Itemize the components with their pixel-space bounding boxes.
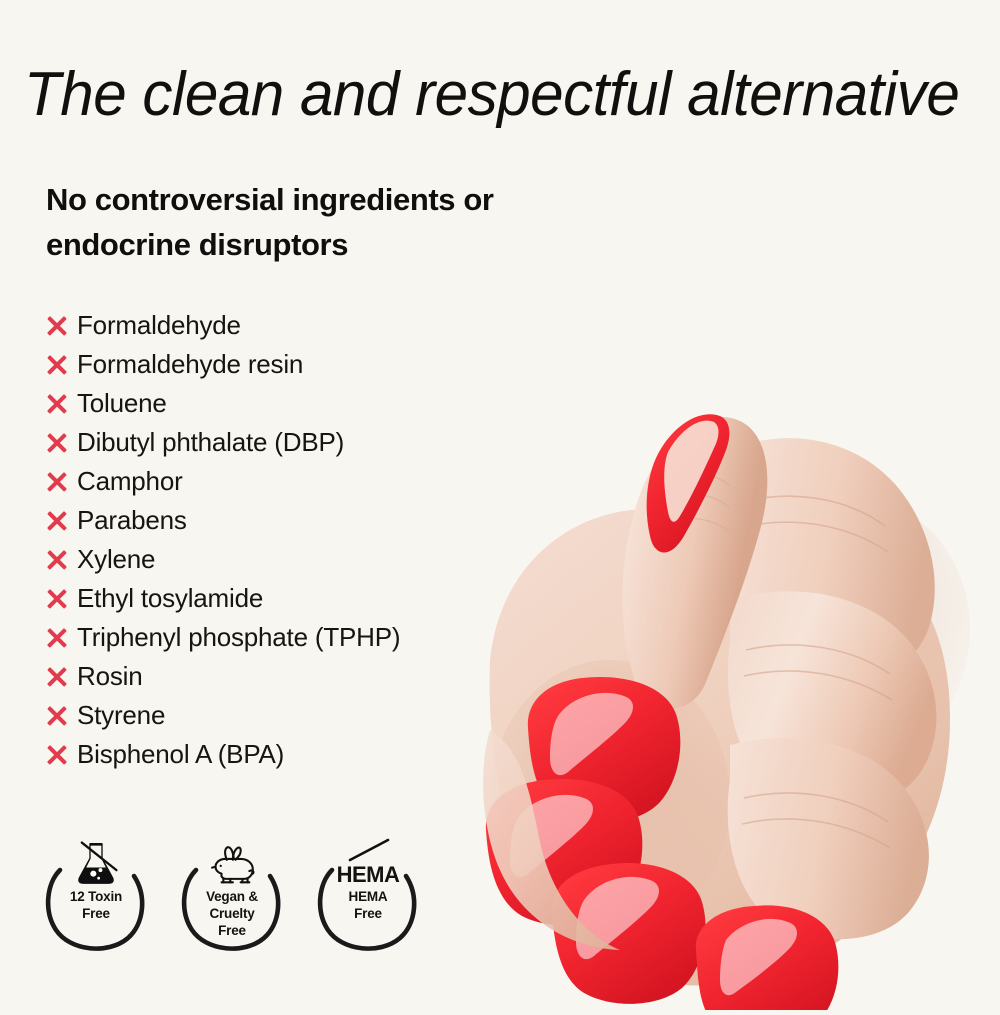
x-icon <box>46 432 68 454</box>
subtitle-line-1: No controversial ingredients or <box>46 178 666 223</box>
list-item: Toluene <box>46 384 476 423</box>
badge-caption-line-2: Cruelty <box>180 905 284 922</box>
subtitle-line-2: endocrine disruptors <box>46 223 666 268</box>
certification-badges: 12 Toxin Free <box>44 836 424 954</box>
x-icon <box>46 627 68 649</box>
badge-hema-free: HEMA HEMA Free <box>316 836 424 954</box>
badge-caption-line-3: Free <box>180 922 284 939</box>
x-icon <box>46 588 68 610</box>
list-item-label: Bisphenol A (BPA) <box>77 739 284 769</box>
x-icon <box>46 510 68 532</box>
badge-caption: 12 Toxin Free <box>44 888 148 922</box>
poster-canvas: The clean and respectful alternative No … <box>0 0 1000 1000</box>
x-icon <box>46 705 68 727</box>
badge-vegan-cruelty-free: Vegan & Cruelty Free <box>180 836 288 954</box>
list-item-label: Dibutyl phthalate (DBP) <box>77 427 344 457</box>
list-item-label: Toluene <box>77 388 167 418</box>
list-item-label: Camphor <box>77 466 183 496</box>
list-item-label: Parabens <box>77 505 187 535</box>
section-subtitle: No controversial ingredients or endocrin… <box>46 178 666 268</box>
list-item: Dibutyl phthalate (DBP) <box>46 423 476 462</box>
list-item: Formaldehyde <box>46 306 476 345</box>
free-from-ingredient-list: Formaldehyde Formaldehyde resin Toluene … <box>46 306 476 774</box>
product-photo-hand <box>430 330 1000 1010</box>
list-item: Ethyl tosylamide <box>46 579 476 618</box>
badge-caption-line-1: 12 Toxin <box>44 888 148 905</box>
hema-crossed-out-icon: HEMA <box>316 836 420 886</box>
list-item: Xylene <box>46 540 476 579</box>
badge-caption-line-2: Free <box>316 905 420 922</box>
x-icon <box>46 393 68 415</box>
list-item: Camphor <box>46 462 476 501</box>
page-title: The clean and respectful alternative <box>24 64 957 126</box>
badge-caption-line-2: Free <box>44 905 148 922</box>
rabbit-icon <box>180 836 284 886</box>
badge-caption-line-1: Vegan & <box>180 888 284 905</box>
badge-caption-line-1: HEMA <box>316 888 420 905</box>
x-icon <box>46 354 68 376</box>
x-icon <box>46 744 68 766</box>
hema-icon-text: HEMA <box>337 864 400 886</box>
strikethrough-icon <box>346 838 392 864</box>
list-item-label: Formaldehyde <box>77 310 241 340</box>
list-item: Rosin <box>46 657 476 696</box>
list-item-label: Triphenyl phosphate (TPHP) <box>77 622 400 652</box>
x-icon <box>46 471 68 493</box>
list-item-label: Rosin <box>77 661 142 691</box>
list-item-label: Ethyl tosylamide <box>77 583 263 613</box>
list-item-label: Formaldehyde resin <box>77 349 303 379</box>
list-item-label: Xylene <box>77 544 155 574</box>
list-item: Bisphenol A (BPA) <box>46 735 476 774</box>
badge-caption: HEMA Free <box>316 888 420 922</box>
flask-crossed-out-icon <box>44 836 148 886</box>
badge-caption: Vegan & Cruelty Free <box>180 888 284 939</box>
x-icon <box>46 666 68 688</box>
list-item: Formaldehyde resin <box>46 345 476 384</box>
list-item: Parabens <box>46 501 476 540</box>
list-item-label: Styrene <box>77 700 165 730</box>
badge-12-toxin-free: 12 Toxin Free <box>44 836 152 954</box>
list-item: Triphenyl phosphate (TPHP) <box>46 618 476 657</box>
x-icon <box>46 315 68 337</box>
list-item: Styrene <box>46 696 476 735</box>
x-icon <box>46 549 68 571</box>
